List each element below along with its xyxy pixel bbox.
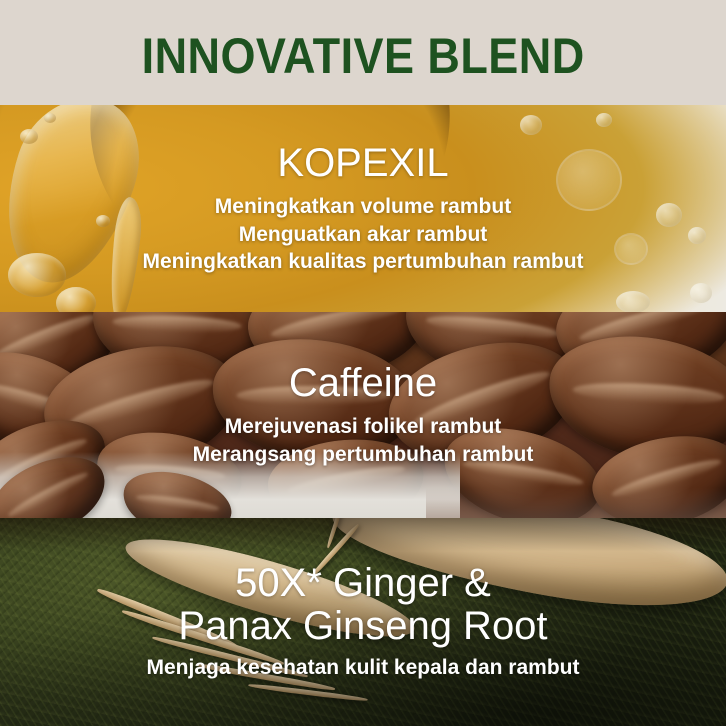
ingredient-infographic-poster: INNOVATIVE BLEND KOPEXIL M xyxy=(0,0,726,726)
panel-ginseng-text: 50X* Ginger & Panax Ginseng Root Menjaga… xyxy=(0,518,726,726)
header-band: INNOVATIVE BLEND xyxy=(0,0,726,105)
panel-kopexil-benefit-3: Meningkatkan kualitas pertumbuhan rambut xyxy=(142,248,583,275)
panel-kopexil-text: KOPEXIL Meningkatkan volume rambut Mengu… xyxy=(0,105,726,312)
page-title: INNOVATIVE BLEND xyxy=(141,25,584,81)
panel-ginseng-title-line-2: Panax Ginseng Root xyxy=(178,605,547,647)
panel-ginseng-benefit-1: Menjaga kesehatan kulit kepala dan rambu… xyxy=(147,654,580,681)
panel-caffeine-title: Caffeine xyxy=(289,362,437,404)
panel-kopexil: KOPEXIL Meningkatkan volume rambut Mengu… xyxy=(0,105,726,312)
panel-ginseng: 50X* Ginger & Panax Ginseng Root Menjaga… xyxy=(0,518,726,726)
panel-caffeine-benefit-1: Merejuvenasi folikel rambut xyxy=(225,413,502,440)
panel-kopexil-benefit-2: Menguatkan akar rambut xyxy=(239,221,488,248)
panel-ginseng-title-line-1: 50X* Ginger & xyxy=(235,562,491,604)
panel-caffeine-text: Caffeine Merejuvenasi folikel rambut Mer… xyxy=(0,312,726,518)
panel-caffeine: Caffeine Merejuvenasi folikel rambut Mer… xyxy=(0,312,726,518)
panel-caffeine-benefit-2: Merangsang pertumbuhan rambut xyxy=(193,441,534,468)
panel-kopexil-title: KOPEXIL xyxy=(277,142,448,184)
panel-kopexil-benefit-1: Meningkatkan volume rambut xyxy=(215,193,511,220)
